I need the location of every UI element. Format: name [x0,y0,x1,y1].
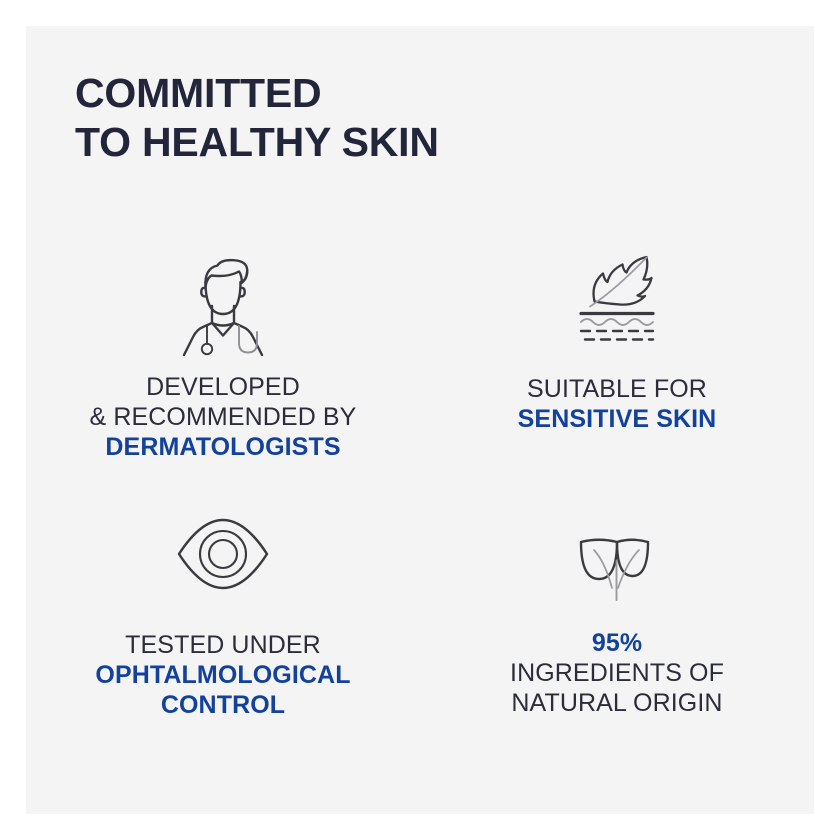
doctor-icon [160,244,286,356]
feather-on-skin-icon [554,244,680,348]
feature-dermatologists: DEVELOPED & RECOMMENDED BY DERMATOLOGIST… [26,244,420,506]
eye-icon [160,506,286,602]
feature-sensitive-skin: SUITABLE FOR SENSITIVE SKIN [420,244,814,506]
feature-line-accent: DERMATOLOGISTS [90,432,357,462]
feature-natural-origin-text: 95% INGREDIENTS OF NATURAL ORIGIN [510,628,724,718]
feature-grid: DEVELOPED & RECOMMENDED BY DERMATOLOGIST… [26,244,814,768]
feature-natural-origin: 95% INGREDIENTS OF NATURAL ORIGIN [420,506,814,768]
feature-line-accent: SENSITIVE SKIN [518,404,717,434]
feature-ophtalmological: TESTED UNDER OPHTALMOLOGICAL CONTROL [26,506,420,768]
page-title-line-2: TO HEALTHY SKIN [75,118,775,167]
page-title: COMMITTED TO HEALTHY SKIN [75,69,775,167]
feature-ophtalmological-text: TESTED UNDER OPHTALMOLOGICAL CONTROL [95,630,350,720]
feature-line: SUITABLE FOR [518,374,717,404]
page-title-line-1: COMMITTED [75,69,775,118]
feature-dermatologists-text: DEVELOPED & RECOMMENDED BY DERMATOLOGIST… [90,372,357,462]
feature-sensitive-skin-text: SUITABLE FOR SENSITIVE SKIN [518,374,717,434]
feature-line-accent: OPHTALMOLOGICAL [95,660,350,690]
feature-line: DEVELOPED [90,372,357,402]
feature-line: TESTED UNDER [95,630,350,660]
feature-line: INGREDIENTS OF [510,658,724,688]
promo-banner: COMMITTED TO HEALTHY SKIN [26,26,814,814]
feature-line-accent: CONTROL [95,690,350,720]
feature-line: & RECOMMENDED BY [90,402,357,432]
feature-line: NATURAL ORIGIN [510,688,724,718]
feature-line-accent: 95% [510,628,724,658]
leaves-icon [554,506,680,602]
